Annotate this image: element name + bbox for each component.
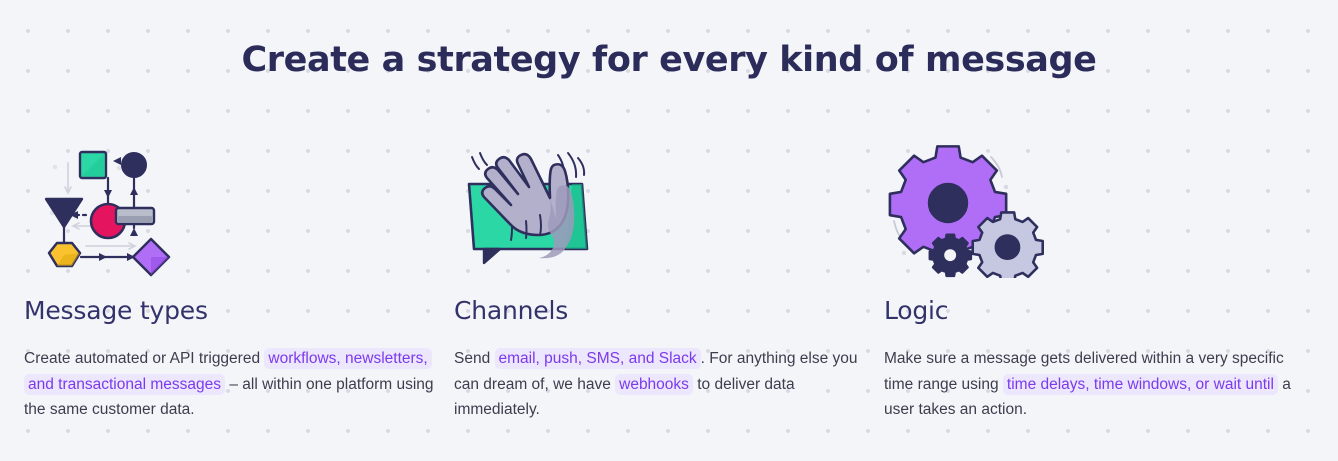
waving-hand-speech-bubble-icon <box>454 143 614 273</box>
gear-medium-lavender <box>973 212 1043 278</box>
feature-section: Create a strategy for every kind of mess… <box>0 0 1338 461</box>
feature-column-logic: Logic Make sure a message gets delivered… <box>884 143 1314 423</box>
column-heading-message-types: Message types <box>24 295 454 327</box>
shape-green-square <box>80 152 106 178</box>
shape-yellow-hexagon <box>49 243 80 266</box>
feature-columns: Message types Create automated or API tr… <box>24 143 1314 423</box>
shape-gray-bar <box>116 208 154 224</box>
gear-small-dark <box>930 235 971 276</box>
column-body-channels: Send email, push, SMS, and Slack. For an… <box>454 346 872 423</box>
body-text-segment: Create automated or API triggered <box>24 350 264 367</box>
shape-purple-diamond <box>133 239 169 275</box>
workflow-diagram-icon <box>24 143 184 273</box>
shape-dark-circle <box>122 153 146 177</box>
body-highlight-segment: time delays, time windows, or wait until <box>1003 374 1278 395</box>
gears-icon <box>884 143 1044 273</box>
column-heading-channels: Channels <box>454 295 884 327</box>
column-body-message-types: Create automated or API triggered workfl… <box>24 346 442 423</box>
column-heading-logic: Logic <box>884 295 1314 327</box>
body-highlight-segment: email, push, SMS, and Slack <box>495 348 701 369</box>
feature-column-message-types: Message types Create automated or API tr… <box>24 143 454 423</box>
page-title: Create a strategy for every kind of mess… <box>0 38 1338 82</box>
column-body-logic: Make sure a message gets delivered withi… <box>884 346 1302 423</box>
body-highlight-segment: webhooks <box>615 374 693 395</box>
feature-column-channels: Channels Send email, push, SMS, and Slac… <box>454 143 884 423</box>
body-text-segment: Send <box>454 350 495 367</box>
